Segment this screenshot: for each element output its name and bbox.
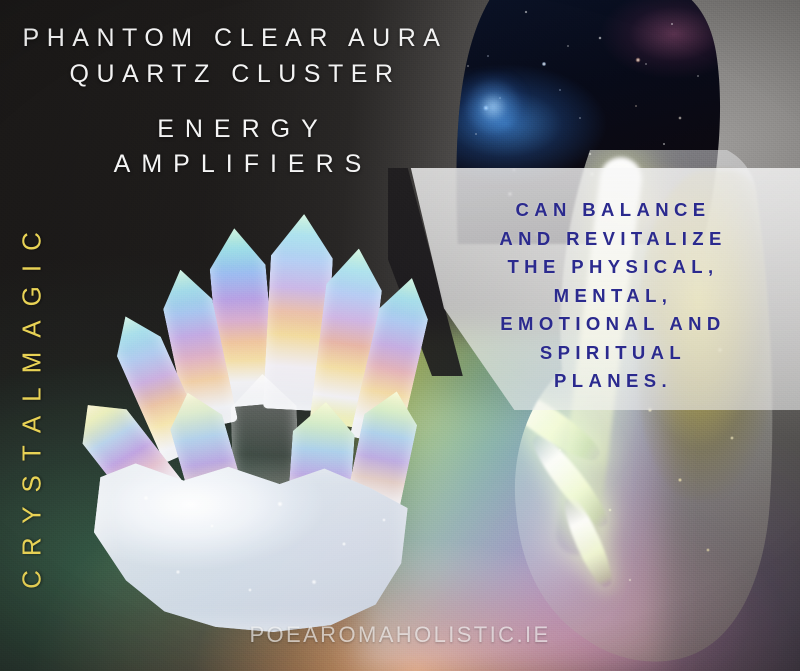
body-copy-line-1: CAN BALANCE <box>430 196 796 225</box>
vertical-brand-text: CRYSTALMAGIC <box>17 218 47 589</box>
body-copy-block: CAN BALANCE AND REVITALIZE THE PHYSICAL,… <box>430 196 796 396</box>
body-copy-line-3: THE PHYSICAL, <box>430 253 796 282</box>
subheadline-block: ENERGY AMPLIFIERS <box>8 112 478 182</box>
subheadline-line-1: ENERGY <box>8 112 478 147</box>
headline-line-2: QUARTZ CLUSTER <box>0 56 470 92</box>
watermark-text: POEAROMAHOLISTIC.IE <box>249 622 550 647</box>
body-copy-line-5: EMOTIONAL AND <box>430 310 796 339</box>
body-copy-line-7: PLANES. <box>430 367 796 396</box>
body-copy-line-6: SPIRITUAL <box>430 339 796 368</box>
site-watermark: POEAROMAHOLISTIC.IE <box>0 622 800 648</box>
vertical-brand-label: CRYSTALMAGIC <box>17 124 48 671</box>
headline-block: PHANTOM CLEAR AURA QUARTZ CLUSTER <box>0 20 470 92</box>
body-copy-line-4: MENTAL, <box>430 282 796 311</box>
headline-line-1: PHANTOM CLEAR AURA <box>0 20 470 56</box>
subheadline-line-2: AMPLIFIERS <box>8 147 478 182</box>
body-copy-line-2: AND REVITALIZE <box>430 225 796 254</box>
promo-poster: PHANTOM CLEAR AURA QUARTZ CLUSTER ENERGY… <box>0 0 800 671</box>
